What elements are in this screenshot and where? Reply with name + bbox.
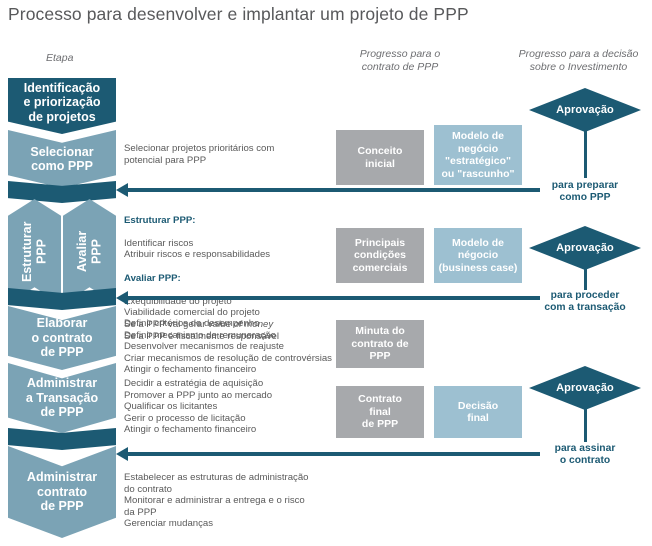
stage-separator-bar-2 — [8, 288, 116, 310]
progress-box-minuta-contrato-label: Minuta do contrato de PPP — [351, 325, 408, 363]
approval-3[interactable]: Aprovação — [529, 366, 641, 410]
stage-identificacao-label: Identificação e priorização de projetos — [23, 81, 100, 125]
progress-box-principais-condicoes[interactable]: Principais condições comerciais — [336, 228, 424, 283]
approval-3-label: Aprovação — [556, 382, 614, 394]
column-header-etapa: Etapa — [46, 52, 116, 65]
stage-elaborar-label: Elaborar o contrato de PPP — [31, 316, 92, 360]
stage-administrar-transacao[interactable]: Administrar a Transação de PPP — [8, 363, 116, 433]
progress-box-decisao-final[interactable]: Decisão final — [434, 386, 522, 438]
approval-3-stem — [584, 408, 587, 442]
description-lines-estruturar: Identificar riscos Atribuir riscos e res… — [124, 238, 270, 261]
description-elaborar: Definir critérios de desempenho Definir … — [124, 318, 339, 376]
stage-administrar-transacao-label: Administrar a Transação de PPP — [26, 376, 98, 420]
progress-box-conceito-inicial-label: Conceito inicial — [358, 145, 403, 170]
diagram-canvas: Processo para desenvolver e implantar um… — [0, 0, 652, 546]
stage-avaliar-ppp[interactable]: Avaliar PPP — [63, 199, 116, 304]
stage-avaliar-ppp-label: Avaliar PPP — [75, 231, 104, 272]
progress-box-decisao-final-label: Decisão final — [458, 400, 498, 425]
feedback-arrow-2-head-icon — [116, 291, 128, 305]
progress-box-modelo-business-case[interactable]: Modelo de négocio (business case) — [434, 228, 522, 283]
description-administrar-transacao: Decidir a estratégia de aquisição Promov… — [124, 378, 339, 436]
stage-estruturar-ppp-label: Estruturar PPP — [20, 221, 49, 281]
stage-administrar-contrato-label: Administrar contrato de PPP — [27, 470, 97, 514]
progress-box-modelo-estrategico-label: Modelo de negócio "estratégico" ou "rasc… — [442, 130, 515, 180]
progress-box-minuta-contrato[interactable]: Minuta do contrato de PPP — [336, 320, 424, 368]
page-title: Processo para desenvolver e implantar um… — [8, 4, 469, 25]
stage-administrar-contrato[interactable]: Administrar contrato de PPP — [8, 446, 116, 538]
progress-box-contrato-final-label: Contrato final de PPP — [358, 393, 402, 431]
approval-2-caption: para proceder com a transação — [525, 290, 645, 314]
stage-selecionar[interactable]: Selecionar como PPP — [8, 130, 116, 188]
description-heading-estruturar: Estruturar PPP: — [124, 215, 195, 226]
approval-1-stem — [584, 130, 587, 178]
approval-3-diamond: Aprovação — [529, 366, 641, 410]
approval-3-caption: para assinar o contrato — [525, 443, 645, 467]
stage-identificacao[interactable]: Identificação e priorização de projetos — [8, 78, 116, 134]
approval-1-label: Aprovação — [556, 104, 614, 116]
approval-2-label: Aprovação — [556, 242, 614, 254]
feedback-arrow-3-line — [128, 452, 540, 456]
column-header-progress-decision: Progresso para a decisão sobre o Investi… — [505, 48, 652, 73]
approval-2-stem — [584, 268, 587, 290]
progress-box-contrato-final[interactable]: Contrato final de PPP — [336, 386, 424, 438]
approval-2[interactable]: Aprovação — [529, 226, 641, 270]
progress-box-principais-condicoes-label: Principais condições comerciais — [353, 237, 408, 275]
stage-elaborar[interactable]: Elaborar o contrato de PPP — [8, 306, 116, 370]
description-administrar-contrato: Estabelecer as estruturas de administraç… — [124, 472, 354, 530]
approval-1[interactable]: Aprovação — [529, 88, 641, 132]
approval-1-caption: para preparar como PPP — [525, 180, 645, 204]
stage-estruturar-ppp[interactable]: Estruturar PPP — [8, 199, 61, 304]
stage-selecionar-label: Selecionar como PPP — [30, 145, 93, 174]
progress-box-conceito-inicial[interactable]: Conceito inicial — [336, 130, 424, 185]
column-header-progress-contract: Progresso para o contrato de PPP — [330, 48, 470, 73]
description-selecionar: Selecionar projetos prioritários com pot… — [124, 143, 324, 166]
approval-1-diamond: Aprovação — [529, 88, 641, 132]
progress-box-modelo-business-case-label: Modelo de négocio (business case) — [439, 237, 518, 275]
approval-2-diamond: Aprovação — [529, 226, 641, 270]
description-heading-avaliar: Avaliar PPP: — [124, 273, 181, 284]
feedback-arrow-1-line — [128, 188, 540, 192]
feedback-arrow-3-head-icon — [116, 447, 128, 461]
progress-box-modelo-estrategico[interactable]: Modelo de negócio "estratégico" ou "rasc… — [434, 125, 522, 185]
feedback-arrow-1-head-icon — [116, 183, 128, 197]
feedback-arrow-2-line — [128, 296, 540, 300]
